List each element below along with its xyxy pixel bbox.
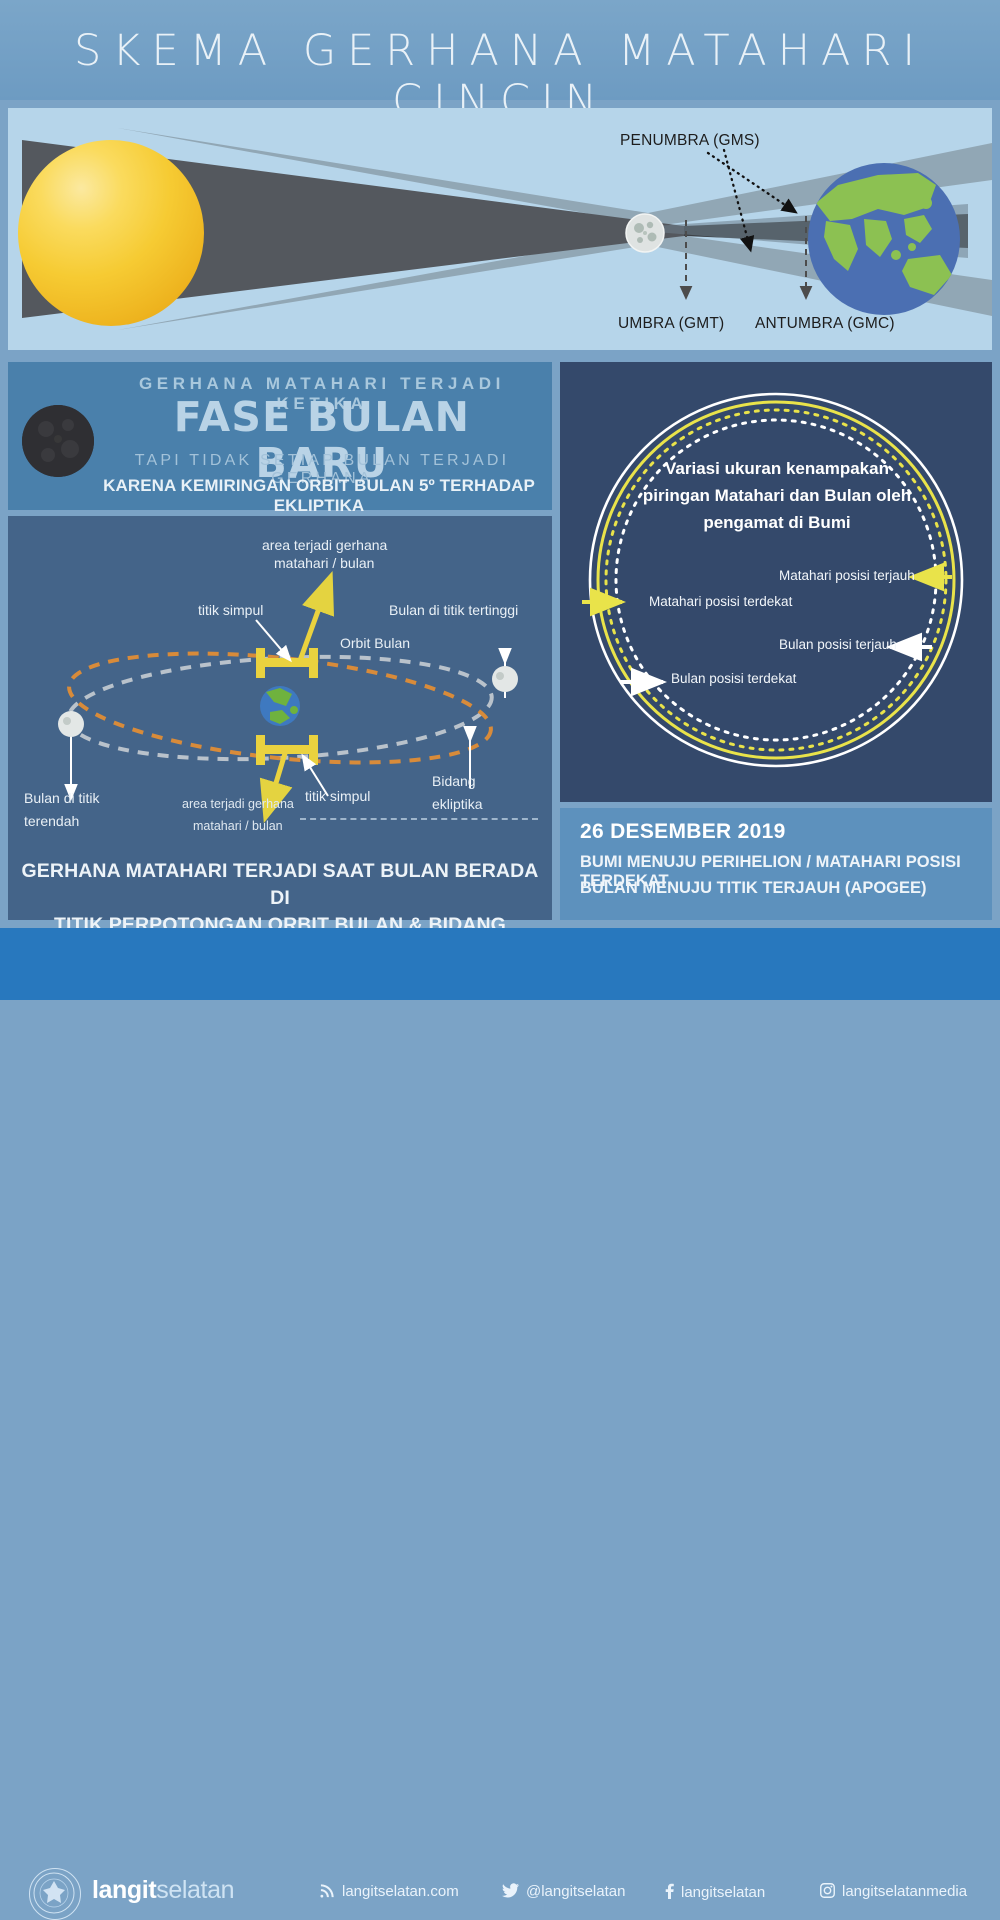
label-orbit-bulan: Orbit Bulan xyxy=(340,634,410,652)
label-bulan-terendah-line2: terendah xyxy=(24,812,79,830)
label-matahari-terdekat: Matahari posisi terdekat xyxy=(649,594,792,609)
facebook-icon xyxy=(665,1883,674,1903)
label-titik-simpul-bottom: titik simpul xyxy=(305,787,370,805)
apparent-size-panel xyxy=(560,362,992,802)
label-antumbra: ANTUMBRA (GMC) xyxy=(755,315,895,333)
brand-wordmark[interactable]: langitselatan xyxy=(92,1876,234,1905)
ecliptic-dashed-line xyxy=(300,818,538,820)
moon-lowest xyxy=(58,711,84,737)
social-label-twitter: @langitselatan xyxy=(526,1883,625,1900)
label-bulan-tertinggi: Bulan di titik tertinggi xyxy=(389,601,518,619)
fase-line-4: KARENA KEMIRINGAN ORBIT BULAN 5º TERHADA… xyxy=(94,476,544,516)
header-bar: SKEMA GERHANA MATAHARI CINCIN xyxy=(0,0,1000,100)
eclipse-geometry-diagram: PENUMBRA (GMS) UMBRA (GMT) ANTUMBRA (GMC… xyxy=(8,108,992,350)
label-bulan-terdekat: Bulan posisi terdekat xyxy=(671,671,796,686)
label-bulan-terjauh: Bulan posisi terjauh xyxy=(779,637,897,652)
earth-small xyxy=(260,686,300,726)
rss-icon xyxy=(320,1883,335,1902)
twitter-icon xyxy=(502,1883,519,1902)
label-matahari-terjauh: Matahari posisi terjauh xyxy=(779,568,915,583)
social-link-instagram[interactable]: langitselatanmedia xyxy=(820,1883,967,1902)
social-link-rss[interactable]: langitselatan.com xyxy=(320,1883,459,1902)
footer-bar: langitselatan langitselatan.com @langits… xyxy=(0,928,1000,1000)
label-penumbra: PENUMBRA (GMS) xyxy=(620,132,760,150)
social-link-facebook[interactable]: langitselatan xyxy=(665,1883,765,1903)
label-umbra: UMBRA (GMT) xyxy=(618,315,724,333)
event-date: 26 DESEMBER 2019 xyxy=(580,820,786,844)
label-titik-simpul-top: titik simpul xyxy=(198,601,263,619)
social-label-facebook: langitselatan xyxy=(681,1884,765,1901)
brand-light: selatan xyxy=(156,1876,234,1904)
apparent-size-title: Variasi ukuran kenampakan piringan Matah… xyxy=(624,455,930,536)
apparent-size-title-line2: piringan Matahari dan Bulan oleh xyxy=(624,482,930,509)
brand-bold: langit xyxy=(92,1876,156,1904)
instagram-icon xyxy=(820,1883,835,1902)
label-eclipse-area-top-line1: area terjadi gerhana xyxy=(262,536,387,554)
label-bulan-terendah-line1: Bulan di titik xyxy=(24,789,99,807)
concentric-rings xyxy=(560,362,992,802)
label-eclipse-area-bottom-line1: area terjadi gerhana xyxy=(182,796,294,812)
new-moon-icon xyxy=(22,405,94,477)
label-bidang-line1: Bidang xyxy=(432,772,476,790)
langitselatan-logo[interactable] xyxy=(29,1868,81,1920)
infographic-page: SKEMA GERHANA MATAHARI CINCIN xyxy=(0,0,1000,1000)
label-eclipse-area-top-line2: matahari / bulan xyxy=(274,554,374,572)
label-bidang-line2: ekliptika xyxy=(432,795,483,813)
apparent-size-title-line3: pengamat di Bumi xyxy=(624,509,930,536)
orbit-caption-line1: GERHANA MATAHARI TERJADI SAAT BULAN BERA… xyxy=(18,858,542,912)
apparent-size-title-line1: Variasi ukuran kenampakan xyxy=(624,455,930,482)
moon-highest xyxy=(492,666,518,692)
label-eclipse-area-bottom-line2: matahari / bulan xyxy=(193,818,283,834)
leader-arrows xyxy=(8,108,992,350)
social-label-rss: langitselatan.com xyxy=(342,1883,459,1900)
event-note-2: BULAN MENUJU TITIK TERJAUH (APOGEE) xyxy=(580,879,927,898)
social-link-twitter[interactable]: @langitselatan xyxy=(502,1883,625,1902)
social-label-instagram: langitselatanmedia xyxy=(842,1883,967,1900)
